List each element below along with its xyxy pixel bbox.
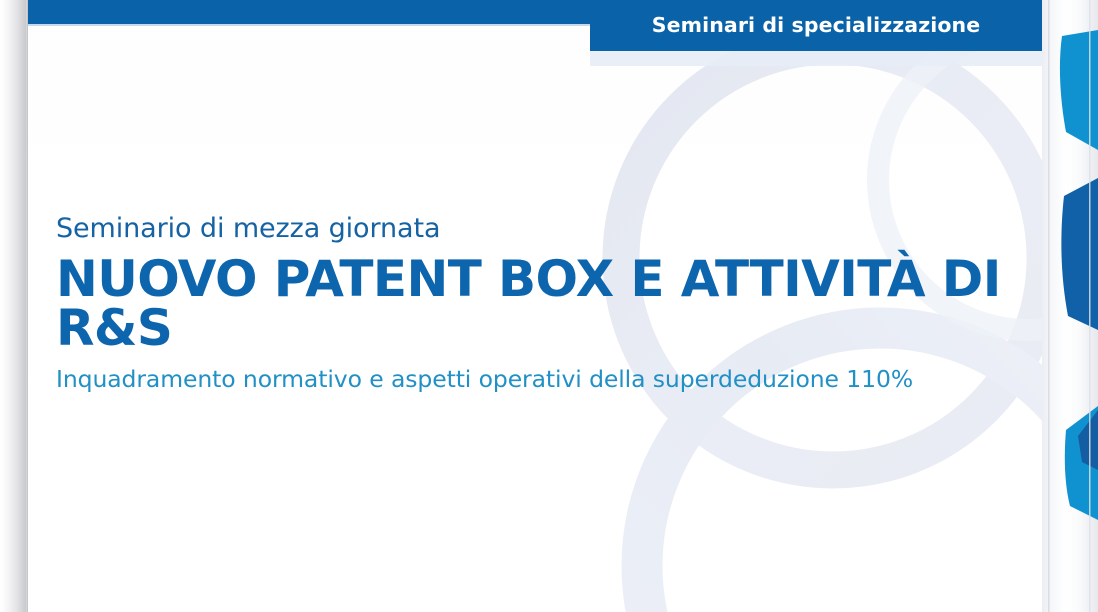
title-block: Seminario di mezza giornata NUOVO PATENT… bbox=[56, 214, 1068, 393]
right-strip-segments-svg bbox=[1042, 0, 1098, 612]
segment-cyan-top bbox=[1060, 30, 1098, 150]
eyebrow-text: Seminario di mezza giornata bbox=[56, 214, 1068, 243]
segment-deep-blue-mid bbox=[1061, 178, 1098, 330]
left-page-edge-hairline bbox=[27, 0, 28, 612]
poster-sheet: Seminari di specializzazione Seminario d… bbox=[28, 0, 1098, 612]
kicker-band: Seminari di specializzazione bbox=[590, 0, 1042, 51]
strip-rail-left bbox=[1048, 0, 1050, 612]
kicker-underband bbox=[590, 51, 1042, 66]
subtitle-text: Inquadramento normativo e aspetti operat… bbox=[56, 366, 1068, 393]
right-edge-strip bbox=[1042, 0, 1098, 612]
strip-rail-right bbox=[1089, 0, 1091, 612]
kicker-label: Seminari di specializzazione bbox=[652, 15, 980, 37]
page-title: NUOVO PATENT BOX E ATTIVITÀ DI R&S bbox=[56, 255, 1056, 352]
poster-canvas: Seminari di specializzazione Seminario d… bbox=[0, 0, 1098, 612]
left-page-edge-shadow bbox=[0, 0, 28, 612]
